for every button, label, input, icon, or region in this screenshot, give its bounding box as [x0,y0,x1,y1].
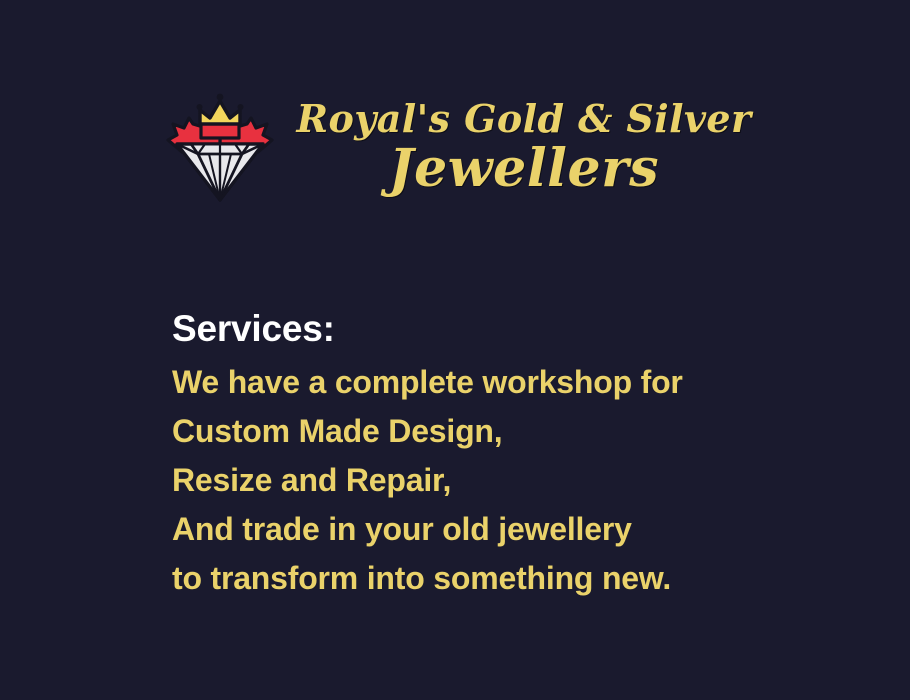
services-line: Custom Made Design, [172,407,872,456]
services-line: to transform into something new. [172,554,872,603]
services-line: We have a complete workshop for [172,358,872,407]
services-lines-list: We have a complete workshop for Custom M… [172,358,872,603]
services-line: Resize and Repair, [172,456,872,505]
brand-name-line-1: Royal's Gold & Silver [297,99,752,139]
brand-name-line-2: Jewellers [389,141,659,197]
services-block: Services: We have a complete workshop fo… [172,305,872,603]
diamond-shape [169,144,271,200]
slide-canvas: Royal's Gold & Silver Jewellers Services… [0,0,910,700]
brand-logo-lockup: Royal's Gold & Silver Jewellers [0,88,910,206]
brand-wordmark: Royal's Gold & Silver Jewellers [297,97,752,197]
services-line: And trade in your old jewellery [172,505,872,554]
crown-diamond-logo-icon [159,88,281,206]
services-heading: Services: [172,305,872,354]
